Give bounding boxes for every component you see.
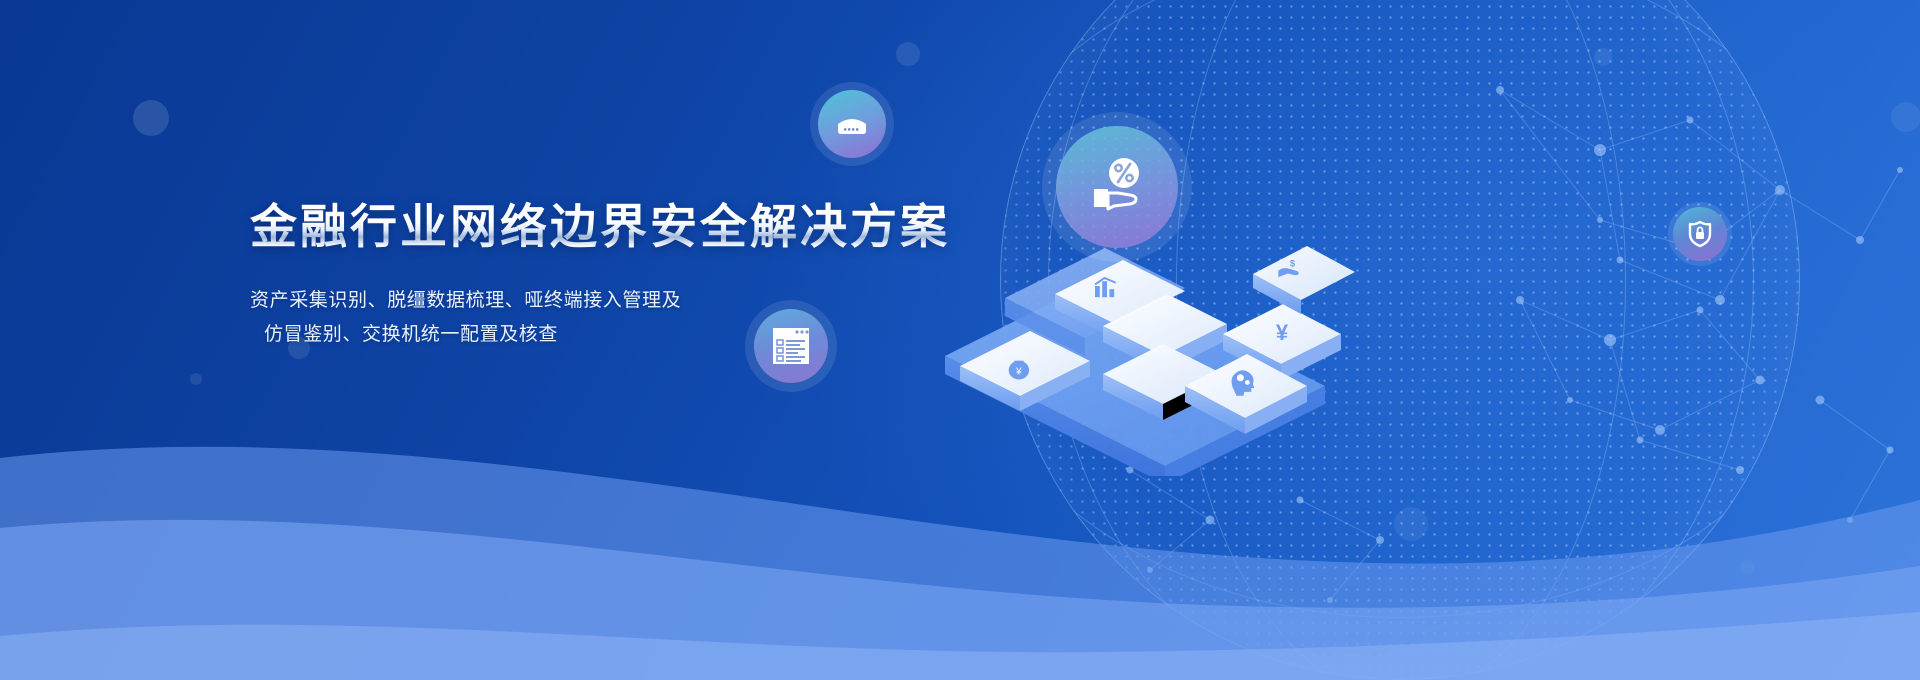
- page-title: 金融行业网络边界安全解决方案: [250, 196, 1010, 258]
- server-icon: [832, 104, 872, 144]
- hero-banner: ¥: [0, 0, 1920, 680]
- bottom-waves: [0, 380, 1920, 680]
- decor-circle-6: [1891, 102, 1920, 132]
- bubble-core: [1056, 126, 1178, 248]
- bubble-core: [818, 90, 886, 158]
- hero-subtitle: 资产采集识别、脱缰数据梳理、哑终端接入管理及 仿冒鉴别、交换机统一配置及核查: [250, 284, 1010, 352]
- bubble-server: [810, 82, 894, 166]
- bubble-percent: [1042, 112, 1192, 262]
- subtitle-line-2: 仿冒鉴别、交换机统一配置及核查: [250, 318, 1010, 352]
- tile-hand-dollar: $: [1253, 246, 1355, 314]
- hero-copy: 金融行业网络边界安全解决方案 资产采集识别、脱缰数据梳理、哑终端接入管理及 仿冒…: [250, 196, 1010, 352]
- shield-lock-icon: [1684, 218, 1716, 250]
- subtitle-line-1: 资产采集识别、脱缰数据梳理、哑终端接入管理及: [250, 284, 1010, 318]
- money-bag-icon: ¥: [1009, 361, 1029, 380]
- svg-text:$: $: [1290, 258, 1296, 268]
- bubble-core: [1673, 207, 1727, 261]
- hand-percent-icon: [1080, 150, 1154, 224]
- decor-circle-1: [133, 100, 169, 136]
- bubble-shield: [1668, 202, 1732, 266]
- yen-symbol-icon: ¥: [1276, 320, 1289, 345]
- decor-circle-4: [896, 42, 920, 66]
- svg-text:¥: ¥: [1015, 366, 1022, 377]
